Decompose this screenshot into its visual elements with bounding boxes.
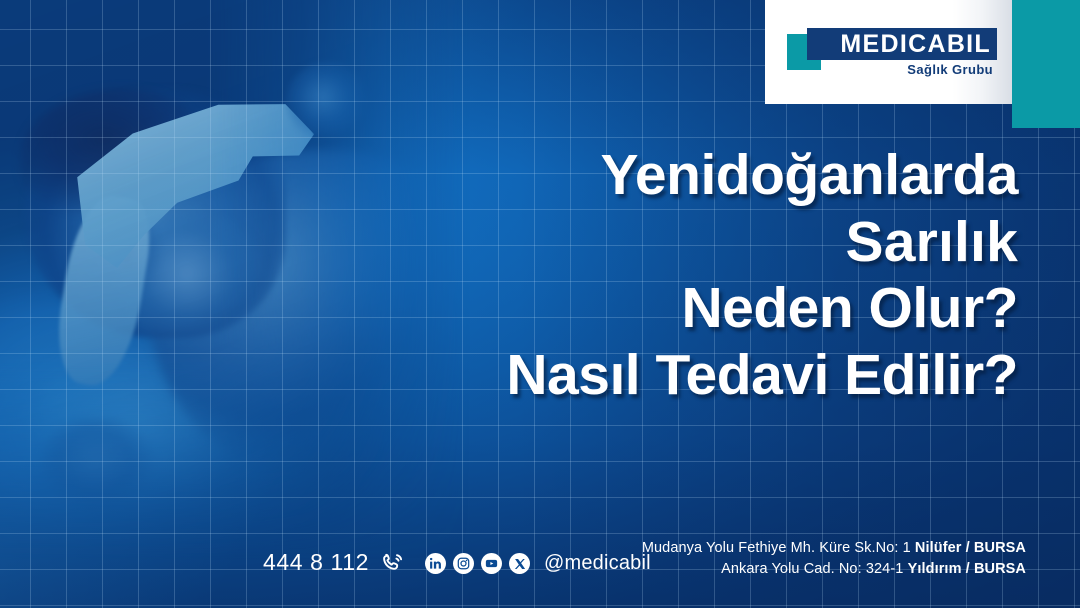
headline: Yenidoğanlarda Sarılık Neden Olur? Nasıl…	[300, 142, 1060, 409]
headline-line-1: Yenidoğanlarda	[300, 142, 1018, 209]
poster-canvas: MEDICABIL Sağlık Grubu Yenidoğanlarda Sa…	[0, 0, 1080, 608]
address-line-1-district: Nilüfer / BURSA	[915, 540, 1026, 556]
teal-corner-block	[1012, 0, 1080, 128]
headline-line-3: Neden Olur?	[300, 275, 1018, 342]
youtube-icon[interactable]	[481, 553, 502, 574]
instagram-icon[interactable]	[453, 553, 474, 574]
phone-number: 444 8 112	[263, 549, 369, 576]
address-line-2-district: Yıldırım / BURSA	[908, 561, 1026, 577]
footer-bar: 444 8 112	[0, 528, 1080, 608]
address-block: Mudanya Yolu Fethiye Mh. Küre Sk.No: 1 N…	[642, 538, 1026, 580]
linkedin-icon[interactable]	[425, 553, 446, 574]
brand-logo: MEDICABIL Sağlık Grubu	[787, 26, 997, 82]
phone-call-icon	[381, 551, 405, 575]
x-icon[interactable]	[509, 553, 530, 574]
social-handle: @medicabil	[544, 552, 651, 575]
logo-panel: MEDICABIL Sağlık Grubu	[765, 0, 1012, 104]
logo-tagline: Sağlık Grubu	[907, 62, 993, 77]
address-line-2: Ankara Yolu Cad. No: 324-1 Yıldırım / BU…	[642, 559, 1026, 580]
social-links[interactable]: @medicabil	[425, 552, 651, 575]
address-line-1: Mudanya Yolu Fethiye Mh. Küre Sk.No: 1 N…	[642, 538, 1026, 559]
logo-bar: MEDICABIL	[807, 28, 997, 60]
headline-line-4: Nasıl Tedavi Edilir?	[300, 342, 1018, 409]
headline-line-2: Sarılık	[300, 209, 1018, 276]
phone-block[interactable]: 444 8 112	[263, 549, 405, 576]
logo-wordmark: MEDICABIL	[840, 32, 997, 57]
address-line-2-street: Ankara Yolu Cad. No: 324-1	[721, 561, 908, 577]
address-line-1-street: Mudanya Yolu Fethiye Mh. Küre Sk.No: 1	[642, 540, 915, 556]
